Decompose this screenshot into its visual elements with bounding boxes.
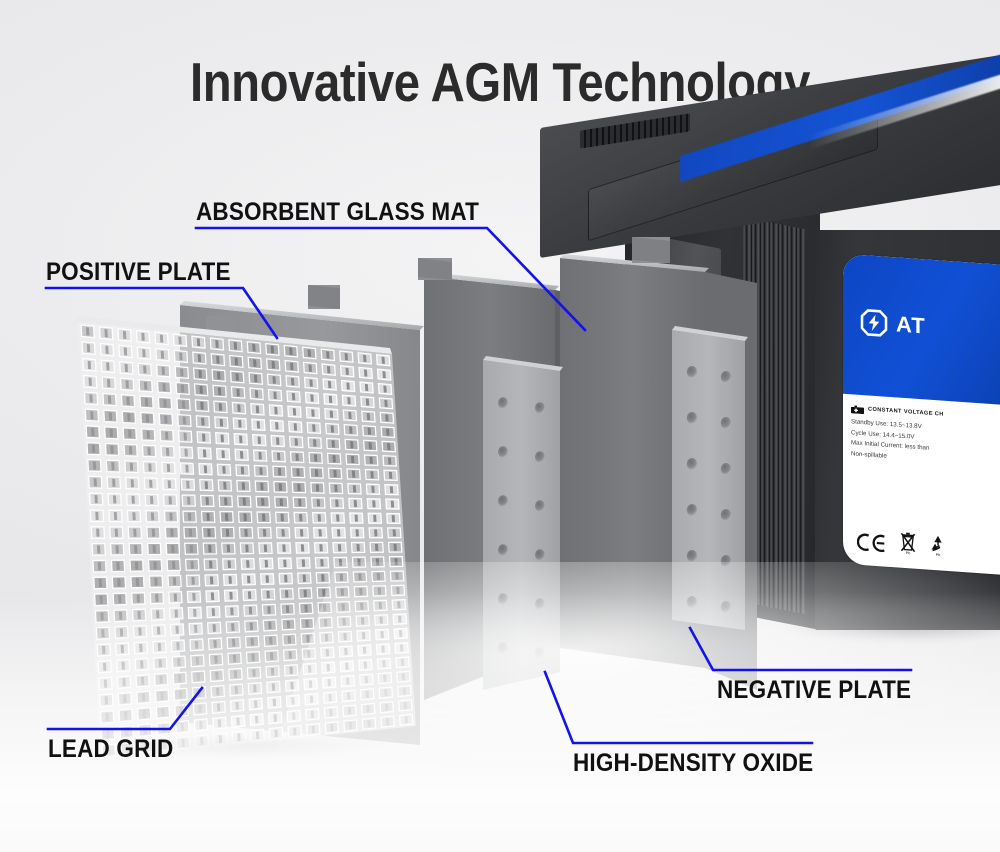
callout-high-density-oxide-label: HIGH-DENSITY OXIDE [573,749,813,778]
callout-lead-grid-label: LEAD GRID [48,735,173,764]
svg-text:Pb: Pb [936,553,940,557]
callout-negative-plate: NEGATIVE PLATE [717,676,933,705]
ce-mark-icon [857,533,887,553]
callout-negative-plate-label: NEGATIVE PLATE [717,676,911,705]
battery-product-label: AT CONSTANT VOLTAGE CH Standby Use: 13.5… [843,254,1000,577]
plate-positive [180,285,424,745]
callout-lead-grid: LEAD GRID [48,735,187,764]
certification-marks: Pb Pb [857,529,947,557]
callout-high-density-oxide: HIGH-DENSITY OXIDE [573,749,840,778]
brand-lockup: AT [859,307,926,342]
recycling-icon: Pb [929,534,947,557]
label-specifications: CONSTANT VOLTAGE CH Standby Use: 13.5~13… [851,404,1000,472]
internal-plate-stack-edges [743,217,805,614]
leader-absorbent-glass-mat [196,228,585,330]
callout-absorbent-glass-mat-label: ABSORBENT GLASS MAT [196,198,479,227]
illustration-canvas: Innovative AGM Technology AT [0,0,1000,852]
brand-name: AT [896,311,926,339]
battery-icon [851,405,864,414]
svg-text:Pb: Pb [906,551,910,555]
leader-lead-grid [48,688,202,729]
bolt-hexagon-logo-icon [859,307,889,339]
crossed-out-wheelie-bin-icon: Pb [900,532,916,555]
callout-absorbent-glass-mat: ABSORBENT GLASS MAT [196,198,510,227]
agm-battery-product: AT CONSTANT VOLTAGE CH Standby Use: 13.5… [530,120,1000,650]
battery-side-face [625,172,820,630]
battery-ground-shadow [780,612,1000,642]
lead-grid-mesh [76,316,416,760]
leader-positive-plate [46,288,277,338]
battery-front-face: AT CONSTANT VOLTAGE CH Standby Use: 13.5… [815,230,1000,630]
battery-side-panel [633,232,721,579]
callout-positive-plate-label: POSITIVE PLATE [46,258,231,287]
callout-positive-plate: POSITIVE PLATE [46,258,251,287]
